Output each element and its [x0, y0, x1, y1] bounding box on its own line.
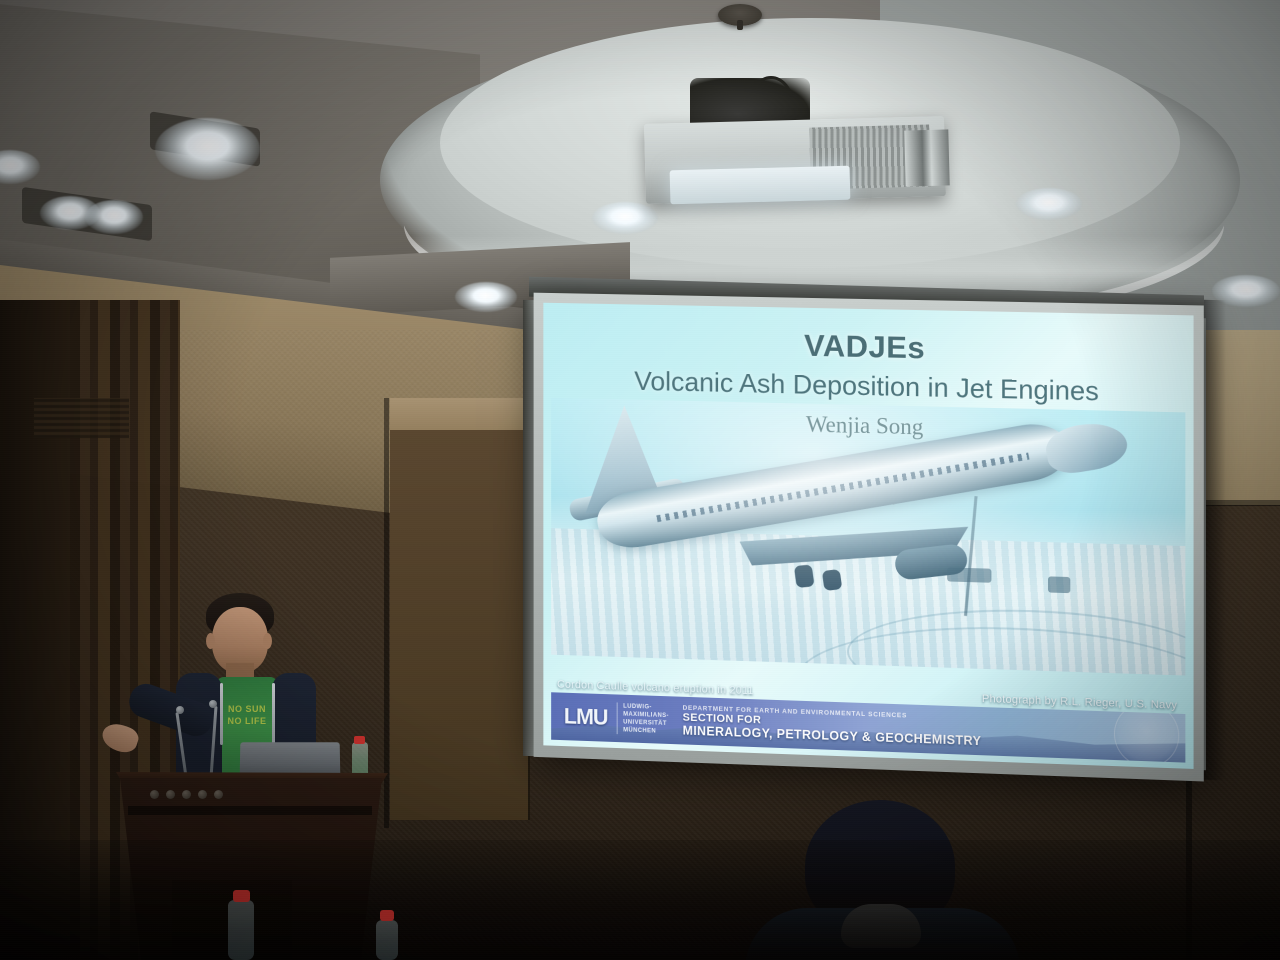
podium-trim-band: [128, 806, 372, 815]
ground-vehicle: [1048, 576, 1070, 593]
presenter-ear: [206, 633, 215, 649]
landing-gear: [822, 569, 843, 591]
photo-scene: VADJEs Volcanic Ash Deposition in Jet En…: [0, 0, 1280, 960]
wall-vent: [34, 398, 129, 438]
presentation-slide: VADJEs Volcanic Ash Deposition in Jet En…: [543, 303, 1193, 769]
podium-button[interactable]: [214, 790, 223, 799]
hood-drawstring: [220, 683, 223, 745]
wall-panel: [390, 430, 530, 820]
foreground-bottle-cap: [380, 910, 394, 921]
lmu-logo: LMU LUDWIG- MAXIMILIANS- UNIVERSITÄT MÜN…: [561, 700, 669, 736]
foreground-water-bottle: [228, 900, 254, 960]
ceiling-light-6: [592, 202, 658, 234]
bottle-cap: [354, 736, 365, 744]
wall-seam: [384, 398, 389, 828]
podium-button[interactable]: [166, 790, 175, 799]
smoke-detector-stem: [737, 20, 743, 30]
ceiling-light-5: [455, 282, 517, 312]
presenter-ear: [263, 633, 272, 649]
podium-button[interactable]: [150, 790, 159, 799]
ceiling-light-7: [1016, 188, 1082, 220]
microphone-head: [209, 700, 217, 708]
lmu-university-name: LUDWIG- MAXIMILIANS- UNIVERSITÄT MÜNCHEN: [616, 702, 669, 736]
air-vent-louvers: [904, 129, 949, 186]
podium-button[interactable]: [182, 790, 191, 799]
landing-gear: [794, 564, 815, 588]
microphone-head: [176, 706, 184, 714]
projection-screen: VADJEs Volcanic Ash Deposition in Jet En…: [534, 293, 1204, 782]
podium-control-buttons[interactable]: [150, 790, 223, 799]
slide-title: VADJEs: [543, 322, 1193, 372]
podium-button[interactable]: [198, 790, 207, 799]
ceiling-light-1: [155, 118, 260, 180]
projector-lens: [670, 166, 851, 205]
ground-vehicle: [947, 567, 991, 582]
foreground-bottle-cap: [233, 890, 250, 902]
ceiling-light-3: [85, 200, 143, 234]
hood-drawstring: [272, 683, 275, 745]
foreground-shadow: [0, 840, 1280, 960]
lmu-logo-text: LMU: [561, 703, 611, 730]
foreground-water-bottle: [376, 920, 398, 960]
